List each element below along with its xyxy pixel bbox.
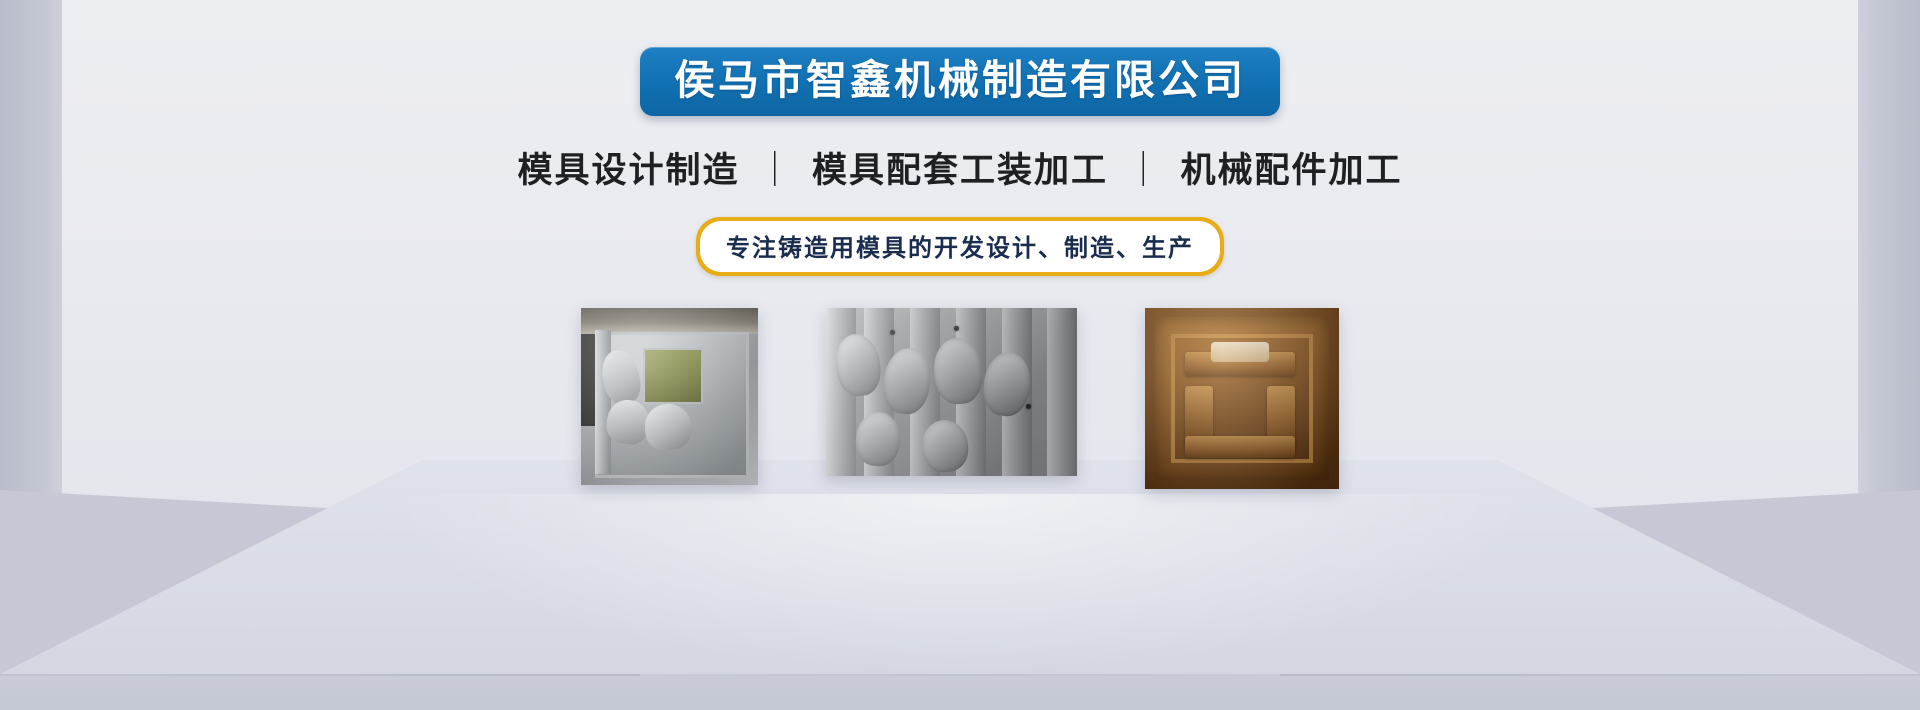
service-item-3: 机械配件加工	[1180, 151, 1402, 190]
services-line: 模具设计制造 ｜ 模具配套工装加工 ｜ 机械配件加工	[517, 142, 1402, 193]
tagline-pill-outer: 专注铸造用模具的开发设计、制造、生产	[696, 217, 1224, 276]
tagline-text: 专注铸造用模具的开发设计、制造、生产	[726, 235, 1194, 262]
service-separator-2: ｜	[1120, 151, 1169, 190]
company-title-badge: 侯马市智鑫机械制造有限公司	[640, 47, 1280, 116]
service-item-2: 模具配套工装加工	[812, 151, 1108, 190]
photo3-shading-overlay	[1145, 308, 1339, 489]
product-photo-gallery	[0, 308, 1920, 489]
product-photo-steel-crankshaft-mould	[826, 308, 1077, 476]
service-item-1: 模具设计制造	[517, 151, 739, 190]
product-photo-wooden-pattern-mould	[1145, 308, 1339, 489]
company-title: 侯马市智鑫机械制造有限公司	[674, 60, 1246, 101]
photo2-shading-overlay	[826, 308, 1077, 476]
photo1-shading-overlay	[581, 308, 758, 485]
service-separator-1: ｜	[751, 151, 800, 190]
tagline-pill-inner: 专注铸造用模具的开发设计、制造、生产	[700, 221, 1220, 272]
company-promo-banner: 侯马市智鑫机械制造有限公司 模具设计制造 ｜ 模具配套工装加工 ｜ 机械配件加工…	[0, 0, 1920, 710]
product-photo-aluminium-die-mould	[581, 308, 758, 485]
